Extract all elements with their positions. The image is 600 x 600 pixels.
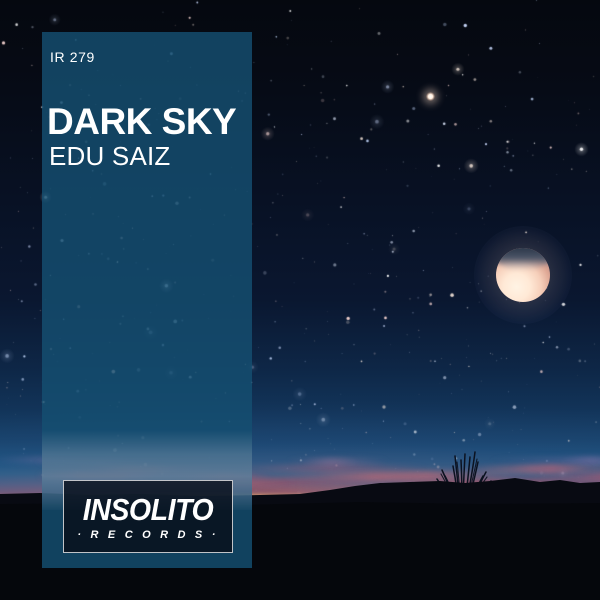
moon-disc	[496, 248, 550, 302]
moon-terminator-shadow	[496, 248, 550, 270]
album-cover: IR 279 DARK SKY EDU SAIZ INSOLITO · R E …	[0, 0, 600, 600]
catalog-number: IR 279	[50, 49, 95, 65]
label-logo-subtitle: · R E C O R D S ·	[64, 530, 232, 541]
label-logo: INSOLITO · R E C O R D S ·	[63, 480, 233, 553]
label-logo-name: INSOLITO	[71, 494, 226, 525]
album-title: DARK SKY	[47, 103, 236, 140]
moon	[496, 248, 550, 302]
artist-name: EDU SAIZ	[49, 143, 171, 169]
bright-star-icon	[426, 92, 435, 101]
